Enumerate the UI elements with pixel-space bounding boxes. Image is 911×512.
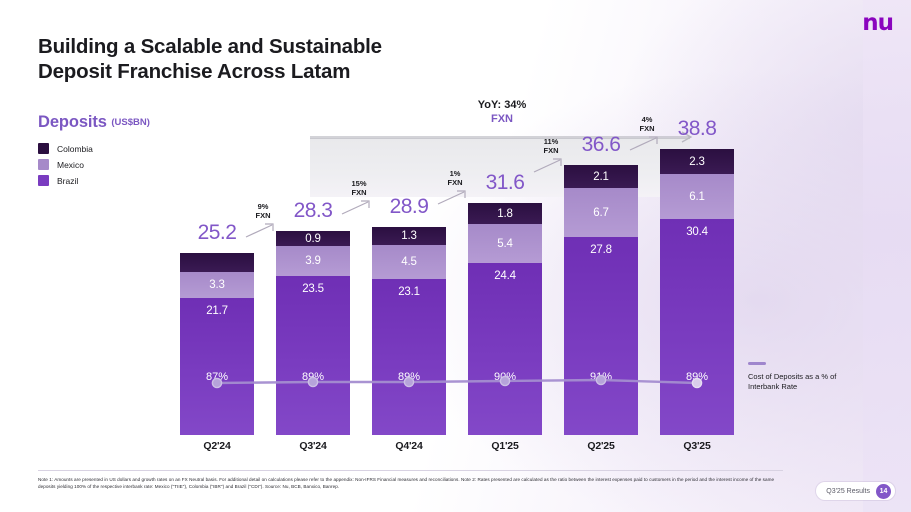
bar-seg-brazil-q325: 30.4	[660, 219, 734, 435]
page-badge: Q3'25 Results 14	[816, 482, 895, 500]
bar-seg-colombia-q125: 1.8	[468, 203, 542, 224]
x-tick-q225: Q2'25	[546, 440, 656, 452]
cost-pct-q324: 89%	[276, 371, 350, 383]
growth-arrow-icon-q225	[532, 156, 566, 174]
cost-of-deposits-legend: Cost of Deposits as a % of Interbank Rat…	[748, 362, 843, 392]
legend-label-brazil: Brazil	[57, 176, 78, 186]
bar-seg-mexico-q424: 4.5	[372, 245, 446, 279]
cost-pct-q224: 87%	[180, 371, 254, 383]
legend-swatch-mexico	[38, 159, 49, 170]
legend-item-colombia: Colombia	[38, 143, 93, 154]
slide-canvas: nu Building a Scalable and Sustainable D…	[0, 0, 911, 512]
cost-of-deposits-swatch	[748, 362, 766, 365]
bar-seg-colombia-q325: 2.3	[660, 149, 734, 174]
chart-heading-unit: (US$BN)	[111, 117, 150, 128]
bar-seg-colombia-q225: 2.1	[564, 165, 638, 188]
x-axis: Q2'24 Q3'24 Q4'24 Q1'25 Q2'25 Q3'25	[180, 440, 740, 456]
cost-pct-q424: 89%	[372, 371, 446, 383]
x-tick-q224: Q2'24	[162, 440, 272, 452]
bar-seg-brazil-q125: 24.4	[468, 263, 542, 435]
series-legend: Colombia Mexico Brazil	[38, 143, 93, 191]
right-gradient-rail	[863, 0, 911, 512]
footnote-divider	[38, 470, 783, 471]
page-title: Building a Scalable and Sustainable Depo…	[38, 34, 382, 84]
legend-label-mexico: Mexico	[57, 160, 84, 170]
cost-of-deposits-label: Cost of Deposits as a % of Interbank Rat…	[748, 372, 843, 392]
bar-seg-colombia-q324: 0.9	[276, 231, 350, 246]
legend-swatch-brazil	[38, 175, 49, 186]
legend-label-colombia: Colombia	[57, 144, 93, 154]
bar-q424[interactable]: 1.3 4.5 23.1 89%	[372, 227, 446, 435]
bar-seg-colombia-q424: 1.3	[372, 227, 446, 245]
growth-arrow-icon-q324	[244, 221, 278, 239]
x-tick-q324: Q3'24	[258, 440, 368, 452]
bar-seg-mexico-q224: 3.3	[180, 272, 254, 298]
chart-heading: Deposits (US$BN)	[38, 113, 150, 132]
x-tick-q424: Q4'24	[354, 440, 464, 452]
page-number: 14	[876, 484, 891, 499]
chart-heading-label: Deposits	[38, 113, 107, 131]
bar-seg-brazil-q324: 23.5	[276, 276, 350, 435]
cost-pct-q125: 90%	[468, 371, 542, 383]
legend-swatch-colombia	[38, 143, 49, 154]
x-tick-q325: Q3'25	[642, 440, 752, 452]
bar-seg-brazil-q424: 23.1	[372, 279, 446, 435]
legend-item-brazil: Brazil	[38, 175, 93, 186]
bar-q125[interactable]: 1.8 5.4 24.4 90%	[468, 203, 542, 435]
bar-q324[interactable]: 0.9 3.9 23.5 89%	[276, 231, 350, 435]
bar-seg-brazil-q224: 21.7	[180, 298, 254, 435]
page-badge-label: Q3'25 Results	[826, 488, 870, 495]
cost-pct-q225: 91%	[564, 371, 638, 383]
bar-seg-mexico-q225: 6.7	[564, 188, 638, 237]
bar-total-q325: 38.8	[642, 117, 752, 141]
bar-seg-colombia-q224	[180, 253, 254, 272]
bar-seg-brazil-q225: 27.8	[564, 237, 638, 435]
cost-pct-q325: 89%	[660, 371, 734, 383]
bar-q224[interactable]: 3.3 21.7 87%	[180, 253, 254, 435]
bar-q325[interactable]: 2.3 6.1 30.4 89%	[660, 149, 734, 435]
bar-seg-mexico-q324: 3.9	[276, 246, 350, 276]
nu-logo: nu	[862, 12, 893, 35]
fxn-growth-value-q424: 15%	[351, 179, 366, 188]
footnote-text: Note 1: Amounts are presented in US doll…	[38, 476, 783, 490]
x-tick-q125: Q1'25	[450, 440, 560, 452]
bar-total-q125: 31.6	[450, 171, 560, 195]
bar-seg-mexico-q325: 6.1	[660, 174, 734, 219]
bar-chart-plot: 25.2 3.3 21.7 87% 9% FXN 28.3 0.9 3.9 23…	[180, 100, 740, 435]
bar-q225[interactable]: 2.1 6.7 27.8 91%	[564, 165, 638, 435]
legend-item-mexico: Mexico	[38, 159, 93, 170]
bar-seg-mexico-q125: 5.4	[468, 224, 542, 263]
